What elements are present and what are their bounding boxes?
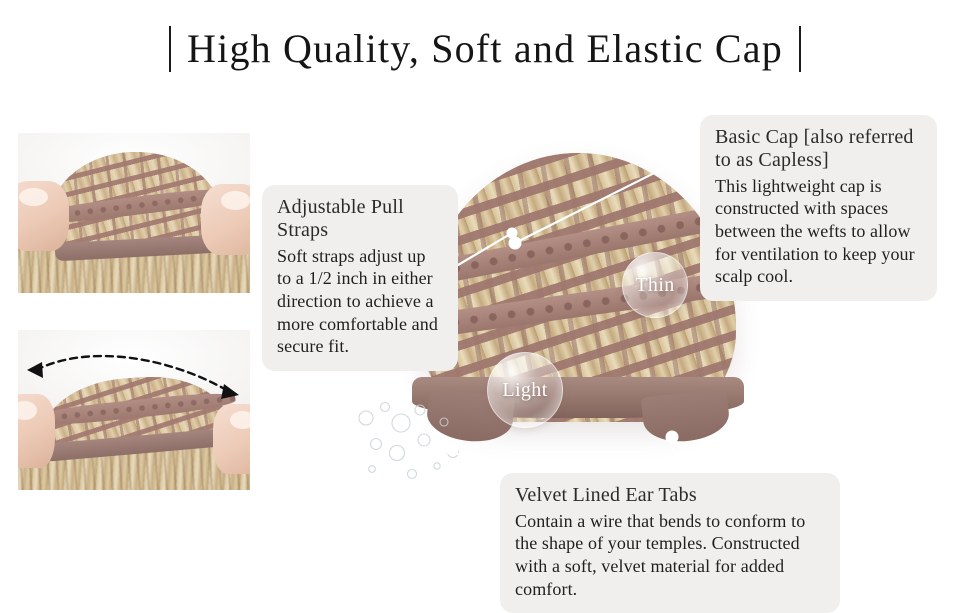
page-title-row: High Quality, Soft and Elastic Cap	[0, 26, 970, 72]
product-photo-cap-stretch-view	[18, 330, 250, 490]
callout-body: Soft straps adjust up to a 1/2 inch in e…	[277, 245, 443, 358]
badge-bubble-light: Light	[487, 352, 563, 428]
badge-bubble-light-label: Light	[502, 379, 547, 402]
hand-right	[213, 404, 250, 474]
callout-title: Adjustable Pull Straps	[277, 196, 443, 242]
callout-body: Contain a wire that bends to conform to …	[515, 510, 825, 601]
hand-left	[18, 394, 55, 468]
photo-inner	[18, 330, 250, 490]
callout-adjustable-pull-straps: Adjustable Pull Straps Soft straps adjus…	[262, 185, 458, 371]
photo-inner	[18, 133, 250, 293]
callout-title: Basic Cap [also referred to as Capless]	[715, 126, 922, 172]
badge-bubble-thin: Thin	[622, 252, 688, 318]
page-title: High Quality, Soft and Elastic Cap	[187, 29, 783, 69]
title-right-rule	[799, 26, 801, 72]
hand-left	[18, 181, 69, 251]
infographic-root: High Quality, Soft and Elastic Cap	[0, 0, 970, 600]
callout-title: Velvet Lined Ear Tabs	[515, 484, 825, 507]
title-left-rule	[169, 26, 171, 72]
hand-right	[201, 184, 250, 254]
callout-velvet-lined-ear-tabs: Velvet Lined Ear Tabs Contain a wire tha…	[500, 473, 840, 613]
product-photo-cap-top-view	[18, 133, 250, 293]
callout-body: This lightweight cap is constructed with…	[715, 175, 922, 288]
badge-bubble-thin-label: Thin	[635, 274, 674, 297]
callout-basic-cap: Basic Cap [also referred to as Capless] …	[700, 115, 937, 301]
hero-ear-tab-right	[641, 388, 732, 445]
